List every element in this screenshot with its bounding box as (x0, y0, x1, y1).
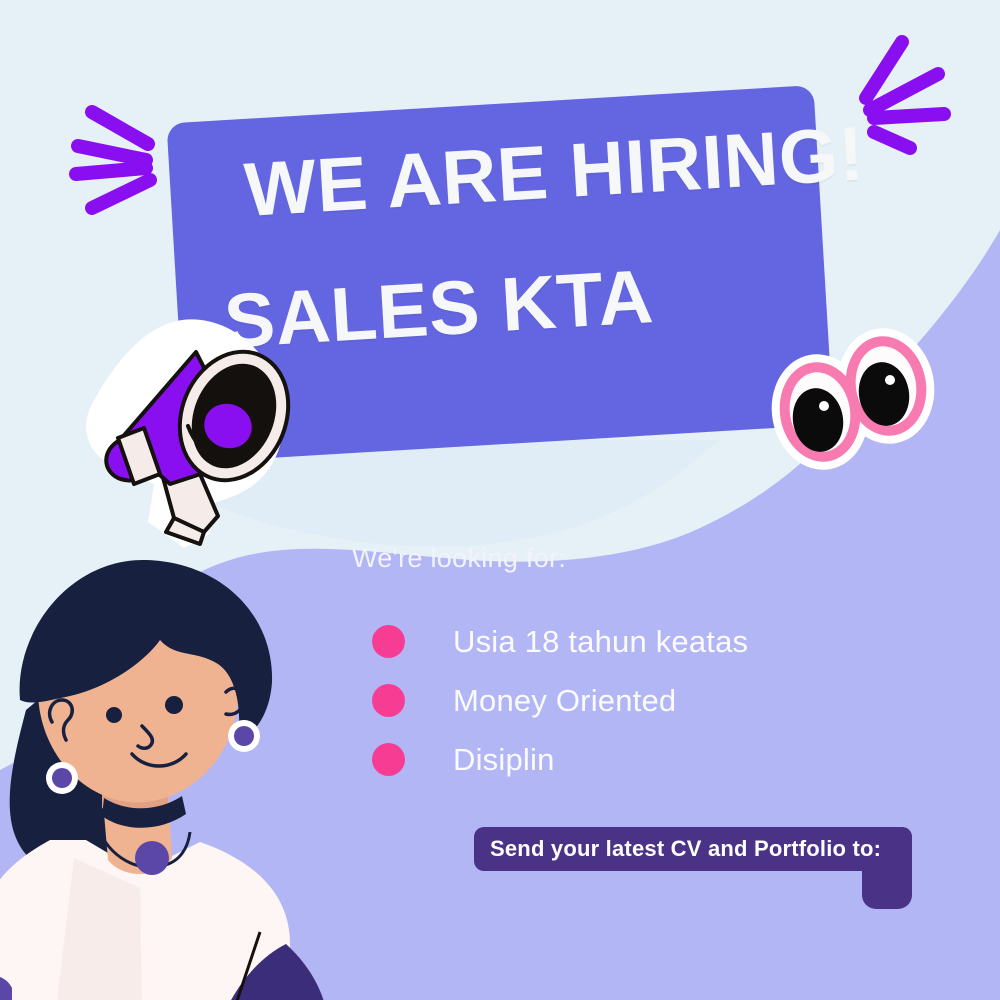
headline-primary: WE ARE HIRING! (242, 121, 780, 229)
hiring-poster: WE ARE HIRING! SALES KTA (0, 0, 1000, 1000)
cta-bar: Send your latest CV and Portfolio to: (474, 827, 912, 871)
megaphone-svg (78, 308, 328, 558)
requirement-label: Usia 18 tahun keatas (453, 624, 748, 660)
eyes-icon (762, 320, 952, 480)
woman-svg (0, 540, 360, 1000)
list-item: Usia 18 tahun keatas (372, 612, 748, 671)
megaphone-icon (78, 308, 328, 558)
list-item: Disiplin (372, 730, 748, 789)
cta-text: Send your latest CV and Portfolio to: (490, 836, 881, 862)
woman-pendant (135, 841, 169, 875)
list-item: Money Oriented (372, 671, 748, 730)
bullet-dot-icon (372, 684, 405, 717)
requirement-label: Money Oriented (453, 683, 676, 719)
bullet-dot-icon (372, 625, 405, 658)
looking-for-label: We're looking for: (352, 543, 566, 574)
woman-illustration (0, 540, 360, 1000)
requirements-list: Usia 18 tahun keatas Money Oriented Disi… (372, 612, 748, 789)
cta-banner: Send your latest CV and Portfolio to: (474, 827, 912, 871)
bullet-dot-icon (372, 743, 405, 776)
eyes-svg (762, 320, 952, 480)
requirement-label: Disiplin (453, 742, 555, 778)
